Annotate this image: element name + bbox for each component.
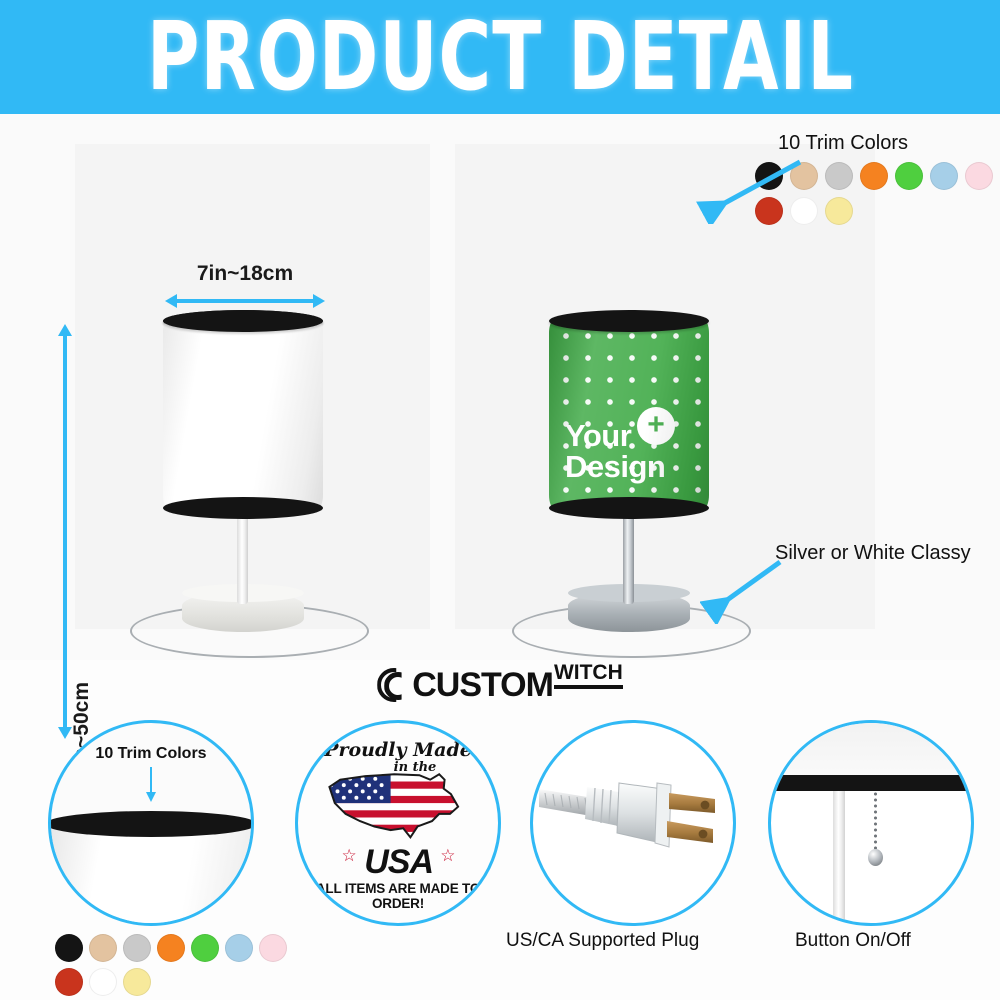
shade-trim-top-edge — [163, 310, 323, 332]
lamp-shade: Your Design + — [549, 319, 709, 509]
arrow-shaft — [175, 299, 315, 303]
swatch-gray[interactable] — [123, 934, 151, 962]
brand-name-primary: CUSTOM — [412, 668, 553, 702]
page-title: PRODUCT DETAIL — [146, 10, 853, 105]
trim-down-arrow-icon — [150, 767, 152, 793]
brand-logo: CUSTOM WITCH — [0, 658, 1000, 712]
switch-shade-trim — [768, 775, 974, 791]
swatch-red[interactable] — [55, 968, 83, 996]
mini-shade-trim — [48, 811, 254, 837]
swatch-gray[interactable] — [825, 162, 853, 190]
brand-name-secondary: WITCH — [554, 662, 623, 689]
base-pointer-arrow-icon — [700, 554, 790, 624]
trim-colors-callout-label: 10 Trim Colors — [778, 132, 908, 155]
feature-trim-colors: 10 Trim Colors — [48, 720, 254, 926]
switch-shade — [768, 723, 974, 779]
lamp-shade-surface-lower — [163, 319, 323, 509]
swatch-tan[interactable] — [89, 934, 117, 962]
usa-subtext: ALL ITEMS ARE MADE TO ORDER! — [298, 881, 498, 911]
lamp-shade-surface: Your Design + — [549, 319, 709, 509]
feature-row: 10 Trim Colors Proudly Made in the — [0, 712, 1000, 1000]
swatch-light-blue[interactable] — [930, 162, 958, 190]
power-plug-icon — [539, 747, 723, 887]
lamp-showcase: 7in~18cm 20in~50cm — [0, 114, 1000, 660]
feature-plug — [530, 720, 736, 926]
swatch-green[interactable] — [191, 934, 219, 962]
custom-c-icon — [377, 668, 411, 702]
feature-trim-colors-label: 10 Trim Colors — [51, 745, 251, 763]
swatch-yellow[interactable] — [825, 197, 853, 225]
swatch-green[interactable] — [895, 162, 923, 190]
switch-pull-chain[interactable] — [874, 791, 877, 851]
feature-made-in-usa: Proudly Made in the — [295, 720, 501, 926]
swatch-black[interactable] — [55, 934, 83, 962]
feature-plug-caption: US/CA Supported Plug — [506, 930, 699, 952]
product-detail-page: PRODUCT DETAIL 7in~18cm 20in~50cm — [0, 0, 1000, 1000]
header-banner: PRODUCT DETAIL — [0, 0, 1000, 114]
width-dimension-arrow — [165, 294, 325, 308]
star-icon-right: ☆ — [440, 846, 454, 865]
swatch-orange[interactable] — [860, 162, 888, 190]
shade-trim-top — [549, 310, 709, 332]
plus-icon[interactable]: + — [637, 407, 675, 445]
usa-script-line-1: Proudly Made — [324, 739, 472, 761]
usa-flag-map-icon — [324, 767, 468, 841]
mini-lamp-shade — [48, 823, 254, 926]
trim-pointer-arrow-icon — [690, 154, 810, 224]
lamp-shade-lower — [163, 319, 323, 509]
swatch-light-blue[interactable] — [225, 934, 253, 962]
base-callout-label: Silver or White Classy — [775, 542, 971, 565]
design-line-2: Design — [565, 451, 665, 483]
feature-switch-caption: Button On/Off — [795, 930, 911, 952]
arrow-head-right-icon — [313, 294, 325, 308]
usa-headline: ☆ USA ☆ — [298, 845, 498, 879]
feature-switch — [768, 720, 974, 926]
switch-pull-chain-ball[interactable] — [868, 849, 883, 866]
star-icon-left: ☆ — [342, 846, 356, 865]
swatch-yellow[interactable] — [123, 968, 151, 996]
swatch-pink[interactable] — [259, 934, 287, 962]
usa-headline-text: USA — [364, 843, 432, 881]
shade-trim-bottom — [549, 497, 709, 519]
width-dimension-label: 7in~18cm — [165, 262, 325, 286]
switch-lamp-pole — [833, 791, 845, 923]
feature-trim-swatches — [55, 934, 305, 996]
swatch-pink[interactable] — [965, 162, 993, 190]
swatch-orange[interactable] — [157, 934, 185, 962]
swatch-white[interactable] — [89, 968, 117, 996]
shade-trim-bottom — [163, 497, 323, 519]
